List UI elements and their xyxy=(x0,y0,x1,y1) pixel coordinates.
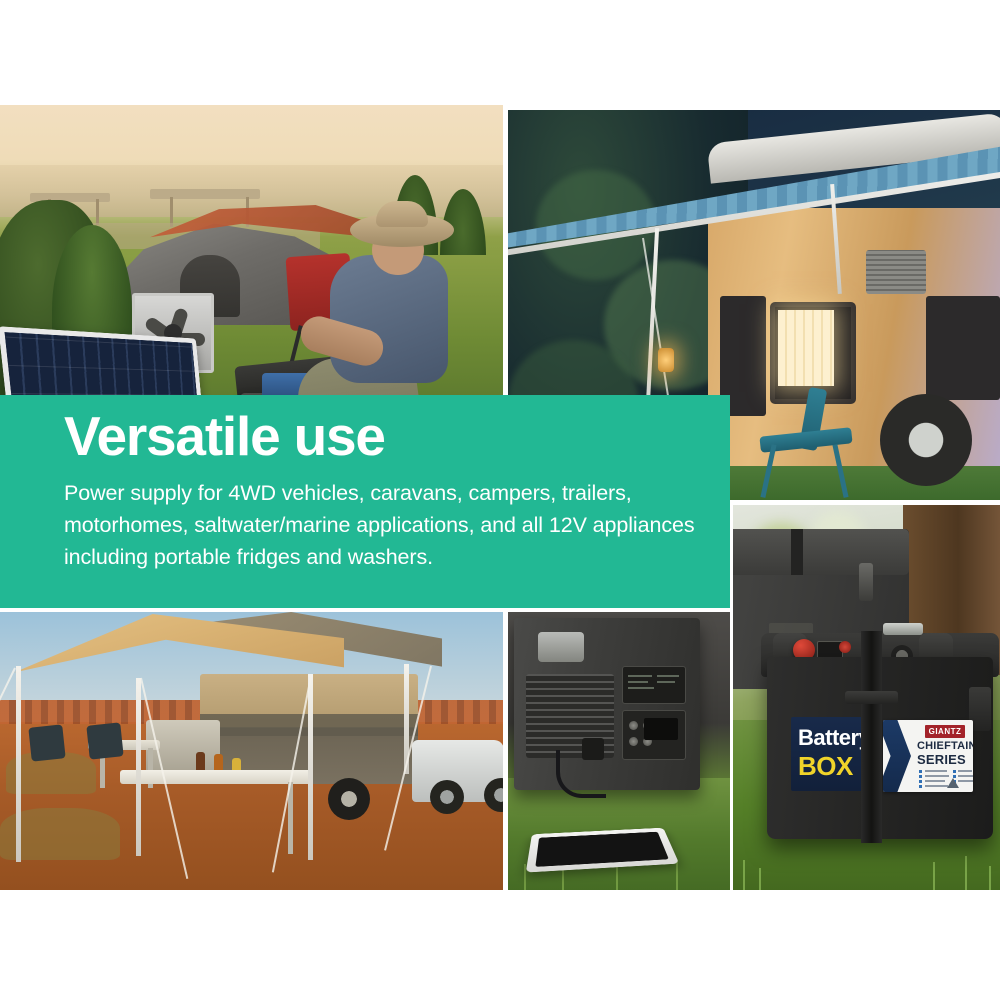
feature-line xyxy=(925,780,945,782)
camp-chair xyxy=(28,724,65,761)
banner-body-text: Power supply for 4WD vehicles, caravans,… xyxy=(64,478,704,573)
feature-line xyxy=(958,770,972,772)
camp-chair xyxy=(760,410,856,488)
compliance-triangle-icon xyxy=(947,778,959,788)
control-knob[interactable] xyxy=(629,721,638,730)
strap-buckle xyxy=(845,691,898,704)
flexible-solar-panel xyxy=(0,326,208,405)
fridge-lid-strap xyxy=(791,529,803,575)
check-mark xyxy=(953,770,956,773)
hat-crown xyxy=(376,201,428,227)
control-knob[interactable] xyxy=(629,737,638,746)
panel-campsite-solar xyxy=(0,105,503,405)
fridge-side-handle xyxy=(538,632,584,662)
grass-blade xyxy=(989,866,991,890)
green-text-banner: Versatile use Power supply for 4WD vehic… xyxy=(0,395,730,608)
banner-headline: Versatile use xyxy=(64,408,385,466)
tablet-screen xyxy=(535,832,669,867)
camp-lantern xyxy=(658,348,674,372)
panel-portable-fridge xyxy=(508,612,730,890)
battery-box-label-line1: Battery xyxy=(798,727,870,749)
feature-line xyxy=(925,775,949,777)
check-mark xyxy=(919,780,922,783)
battery-box-strap xyxy=(861,631,882,843)
folding-camp-table xyxy=(120,770,312,784)
chevron-graphic xyxy=(883,720,911,792)
power-cable xyxy=(556,750,606,798)
spec-line xyxy=(657,675,679,677)
feature-line xyxy=(958,780,973,782)
grass-blade xyxy=(616,866,618,890)
brand-logo: GIANTZ xyxy=(925,725,965,738)
feature-line xyxy=(925,785,948,787)
caravan-window-light xyxy=(778,310,834,386)
grass-blade xyxy=(676,860,678,890)
ute-wheel xyxy=(430,780,464,814)
portable-fridge-body xyxy=(514,618,700,790)
caravan-wheel xyxy=(880,394,972,486)
awning-pole xyxy=(136,678,141,856)
spec-line xyxy=(657,681,675,683)
feature-line xyxy=(925,770,947,772)
awning-pole xyxy=(308,674,313,860)
fridge-latch xyxy=(859,563,873,601)
grass-blade xyxy=(743,860,745,890)
fridge-lid xyxy=(733,529,909,575)
marketing-image-canvas: Battery BOX GIANTZ CHIEFTAIN SERIES xyxy=(0,0,1000,1000)
sticker-line2: SERIES xyxy=(917,753,971,766)
spec-line xyxy=(628,675,652,677)
terminal-cap xyxy=(839,641,851,653)
panel-battery-box-product: Battery BOX GIANTZ CHIEFTAIN SERIES xyxy=(733,505,1000,890)
caravan-roof-vent xyxy=(866,250,926,294)
sticker-line1: CHIEFTAIN xyxy=(917,741,971,752)
fridge-spec-plate xyxy=(622,666,686,704)
spec-line xyxy=(628,687,654,689)
camp-chair xyxy=(86,722,123,759)
spec-line xyxy=(628,681,648,683)
grass-blade xyxy=(759,868,761,890)
trailer-wheel xyxy=(328,778,370,820)
battery-box-label-line2: BOX xyxy=(798,753,853,779)
structure-pole xyxy=(96,199,99,225)
awning-pole xyxy=(16,666,21,862)
check-mark xyxy=(919,785,922,788)
grass-blade xyxy=(933,862,935,890)
grass-blade xyxy=(965,856,967,890)
caravan-dark-panel xyxy=(926,296,1000,400)
chieftain-series-sticker: GIANTZ CHIEFTAIN SERIES xyxy=(883,720,973,792)
feature-line xyxy=(958,775,973,777)
fridge-display-screen xyxy=(644,718,678,740)
check-mark xyxy=(919,775,922,778)
person-torso xyxy=(330,255,448,383)
shade-structure xyxy=(150,189,260,199)
check-mark xyxy=(919,770,922,773)
lid-clasp xyxy=(883,623,923,635)
panel-outback-camper xyxy=(0,612,503,890)
